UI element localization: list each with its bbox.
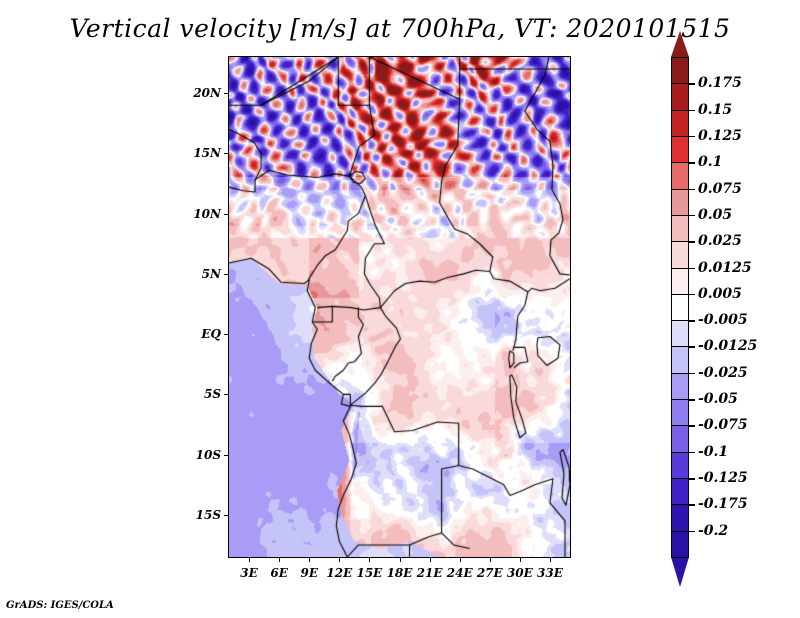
colorbar-tick-label: 0.0125 [698,260,752,276]
colorbar-tick-label: 0.05 [698,207,732,223]
colorbar-swatch [671,189,689,217]
colorbar-tick [689,531,695,533]
x-axis-tick-label: 24E [447,566,473,580]
colorbar-tick [689,136,695,138]
colorbar-tick-label: 0.15 [698,102,732,118]
colorbar-tick-label: -0.0125 [698,338,757,354]
x-axis-tick-label: 30E [507,566,533,580]
colorbar-tick [689,504,695,506]
x-axis-tick-label: 33E [537,566,563,580]
colorbar-tick [689,399,695,401]
x-axis-tick [369,557,370,562]
x-axis-tick [249,557,250,562]
colorbar-tick [689,215,695,217]
y-axis-tick-label: 15S [196,508,221,522]
colorbar-tick [689,320,695,322]
colorbar-tick-label: -0.005 [698,312,748,328]
colorbar-tick [689,294,695,296]
colorbar-swatch [671,57,689,85]
x-axis-tick-label: 18E [387,566,413,580]
colorbar-swatch [671,399,689,427]
x-axis-tick-label: 6E [270,566,288,580]
colorbar-swatch [671,241,689,269]
colorbar-swatch [671,373,689,401]
colorbar-tick [689,478,695,480]
x-axis-tick [339,557,340,562]
figure-canvas: Vertical velocity [m/s] at 700hPa, VT: 2… [0,0,800,618]
colorbar-tick-label: 0.005 [698,286,742,302]
colorbar-tick-label: -0.2 [698,523,728,539]
colorbar-swatch [671,162,689,190]
colorbar-tick [689,189,695,191]
x-axis-tick-label: 15E [356,566,382,580]
colorbar-swatch [671,452,689,480]
x-axis-tick [460,557,461,562]
colorbar-tick [689,346,695,348]
colorbar-tick [689,241,695,243]
colorbar-tick-label: -0.125 [698,470,748,486]
x-axis-tick [400,557,401,562]
colorbar-swatch [671,110,689,138]
x-axis-tick [279,557,280,562]
colorbar-swatch [671,83,689,111]
y-axis-tick-label: 15N [193,146,221,160]
y-axis-tick-label: 5S [204,387,221,401]
x-axis-tick-label: 27E [477,566,503,580]
colorbar-tick-label: 0.175 [698,75,742,91]
colorbar-swatch [671,504,689,532]
colorbar-tick-label: -0.05 [698,391,738,407]
colorbar-swatch [671,531,689,559]
y-axis-tick-label: EQ [201,327,221,341]
y-axis-tick-label: 5N [202,267,221,281]
x-axis-tick [490,557,491,562]
map-plot-area [229,57,570,557]
colorbar-tick-label: 0.1 [698,154,722,170]
x-axis-tick [430,557,431,562]
y-axis-tick-label: 10N [193,207,221,221]
colorbar-tick [689,373,695,375]
colorbar-tick-label: -0.025 [698,365,748,381]
colorbar: 0.1750.150.1250.10.0750.050.0250.01250.0… [671,57,689,557]
colorbar-swatch [671,136,689,164]
colorbar-tick-label: -0.075 [698,417,748,433]
colorbar-arrow-top [671,31,689,57]
colorbar-tick-label: -0.175 [698,496,748,512]
attribution-label: GrADS: IGES/COLA [6,600,114,611]
colorbar-tick [689,83,695,85]
colorbar-swatch [671,478,689,506]
x-axis-tick-label: 3E [240,566,258,580]
vertical-velocity-field [229,57,570,557]
colorbar-tick-label: 0.025 [698,233,742,249]
colorbar-tick-label: -0.1 [698,444,728,460]
colorbar-tick-label: 0.125 [698,128,742,144]
x-axis-tick [550,557,551,562]
colorbar-tick [689,110,695,112]
x-axis-tick-label: 9E [300,566,318,580]
x-axis-tick [520,557,521,562]
x-axis: 3E6E9E12E15E18E21E24E27E30E33E [229,557,570,587]
x-axis-tick-label: 21E [417,566,443,580]
colorbar-tick [689,162,695,164]
colorbar-swatch [671,346,689,374]
x-axis-tick [309,557,310,562]
colorbar-arrow-bottom [671,557,689,587]
y-axis-tick-label: 10S [196,448,221,462]
y-axis: 20N15N10N5NEQ5S10S15S [0,57,229,557]
colorbar-swatch [671,215,689,243]
colorbar-tick [689,268,695,270]
colorbar-tick [689,425,695,427]
colorbar-swatch [671,268,689,296]
colorbar-tick-label: 0.075 [698,181,742,197]
colorbar-swatch [671,320,689,348]
colorbar-swatch [671,425,689,453]
y-axis-tick-label: 20N [193,86,221,100]
x-axis-tick-label: 12E [326,566,352,580]
colorbar-swatch [671,294,689,322]
colorbar-tick [689,452,695,454]
